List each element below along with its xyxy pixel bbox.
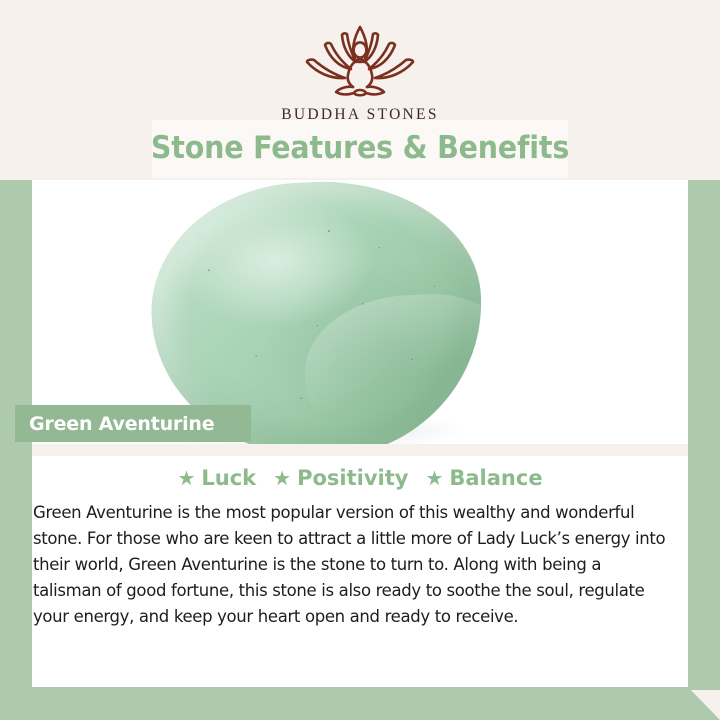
page-title: Stone Features & Benefits — [169, 122, 552, 174]
star-icon: ★ — [273, 468, 291, 488]
benefit-label: Balance — [449, 466, 542, 490]
stone-facet-highlight — [301, 290, 519, 444]
lotus-meditation-icon — [285, 18, 435, 104]
benefit-label: Positivity — [297, 466, 408, 490]
brand-logo: BUDDHA STONES — [0, 18, 720, 124]
frame-bottom-accent — [0, 687, 720, 720]
frame-left-accent — [0, 178, 32, 720]
benefit-item: ★ Positivity — [273, 466, 408, 490]
star-icon: ★ — [177, 468, 195, 488]
description-text: Green Aventurine is the most popular ver… — [33, 500, 670, 630]
benefit-label: Luck — [201, 466, 256, 490]
header: BUDDHA STONES Stone Features & Benefits — [0, 0, 720, 180]
product-name: Green Aventurine — [29, 413, 214, 435]
benefit-item: ★ Luck — [177, 466, 256, 490]
benefits-list: ★ Luck ★ Positivity ★ Balance — [32, 466, 688, 490]
benefit-item: ★ Balance — [425, 466, 542, 490]
infographic-page: BUDDHA STONES Stone Features & Benefits … — [0, 0, 720, 720]
panel-divider — [32, 444, 688, 456]
star-icon: ★ — [425, 468, 443, 488]
product-name-band: Green Aventurine — [15, 405, 251, 442]
